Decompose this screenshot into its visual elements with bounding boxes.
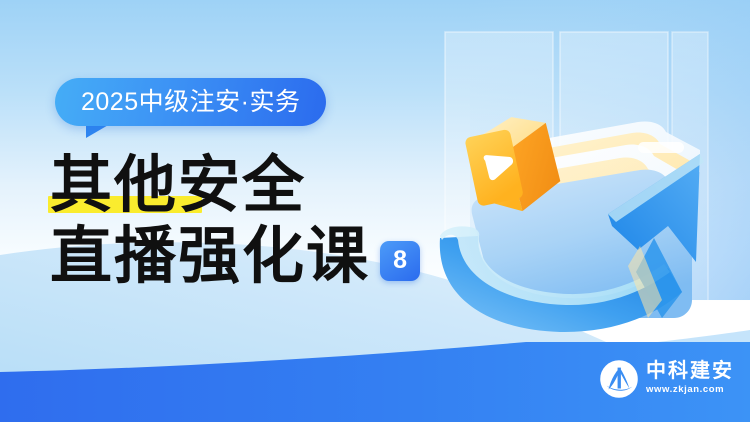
circle-person-logo-icon bbox=[600, 360, 638, 398]
logo-website-url: www.zkjan.com bbox=[646, 384, 734, 396]
episode-number-badge[interactable]: 8 bbox=[380, 241, 420, 281]
logo-text-block: 中科建安 www.zkjan.com bbox=[646, 361, 734, 396]
headline-line-1-text: 其他安全 bbox=[50, 152, 306, 219]
course-category-label: 2025中级注安·实务 bbox=[81, 90, 300, 115]
course-banner: 2025中级注安·实务 其他安全 直播强化课 8 bbox=[0, 0, 750, 422]
headline-line-1: 其他安全 bbox=[50, 152, 420, 219]
headline-line-2-text: 直播强化课 bbox=[50, 223, 370, 290]
badge-tail-icon bbox=[86, 124, 110, 138]
headline-line-2: 直播强化课 8 bbox=[50, 223, 420, 290]
course-illustration bbox=[400, 0, 750, 360]
course-category-badge[interactable]: 2025中级注安·实务 bbox=[55, 78, 326, 126]
logo-brand-name: 中科建安 bbox=[646, 361, 734, 382]
brand-logo[interactable]: 中科建安 www.zkjan.com bbox=[600, 360, 734, 398]
headline-block: 其他安全 直播强化课 8 bbox=[50, 152, 420, 290]
